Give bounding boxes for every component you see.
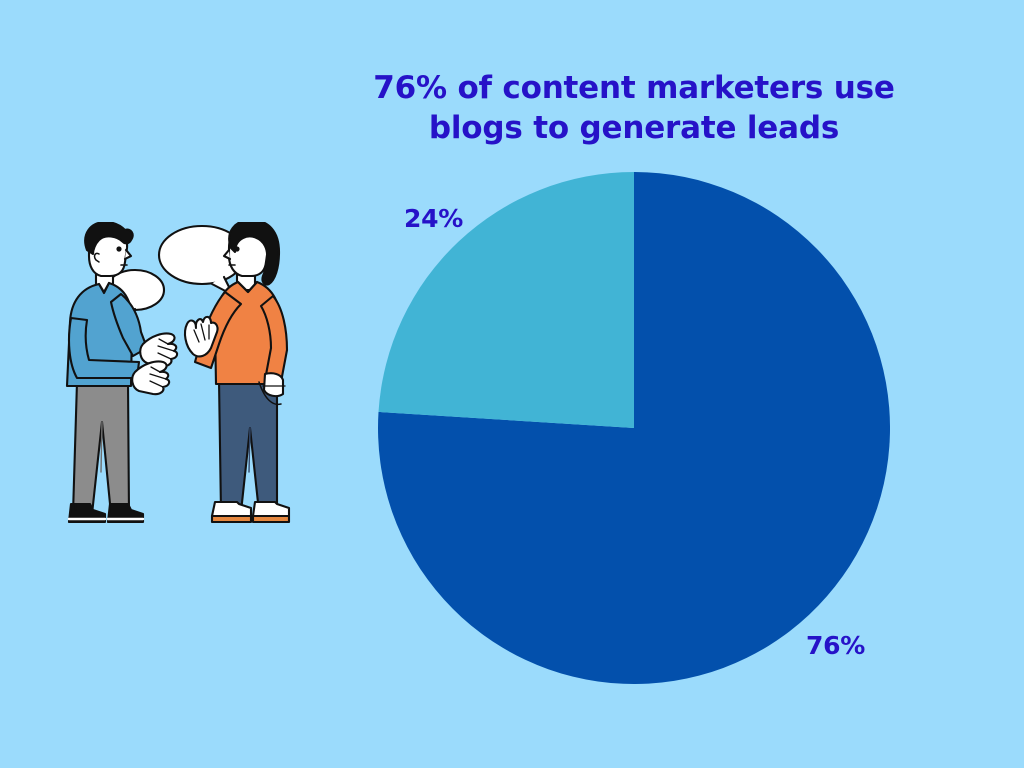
pie-label-minor: 24% <box>404 204 463 233</box>
poster-canvas: 76% of content marketers use blogs to ge… <box>0 0 1024 768</box>
person-left <box>67 222 177 522</box>
person-right-hand-pocket <box>264 373 283 396</box>
person-right-shoes <box>212 502 289 522</box>
pie-label-major: 76% <box>806 631 865 660</box>
page-title: 76% of content marketers use blogs to ge… <box>354 68 914 149</box>
page-title-line-2: blogs to generate leads <box>354 108 914 148</box>
page-title-line-1: 76% of content marketers use <box>354 68 914 108</box>
person-left-shoes <box>69 504 143 522</box>
pie-chart <box>378 172 890 684</box>
illustration-two-people-talking <box>55 222 335 552</box>
